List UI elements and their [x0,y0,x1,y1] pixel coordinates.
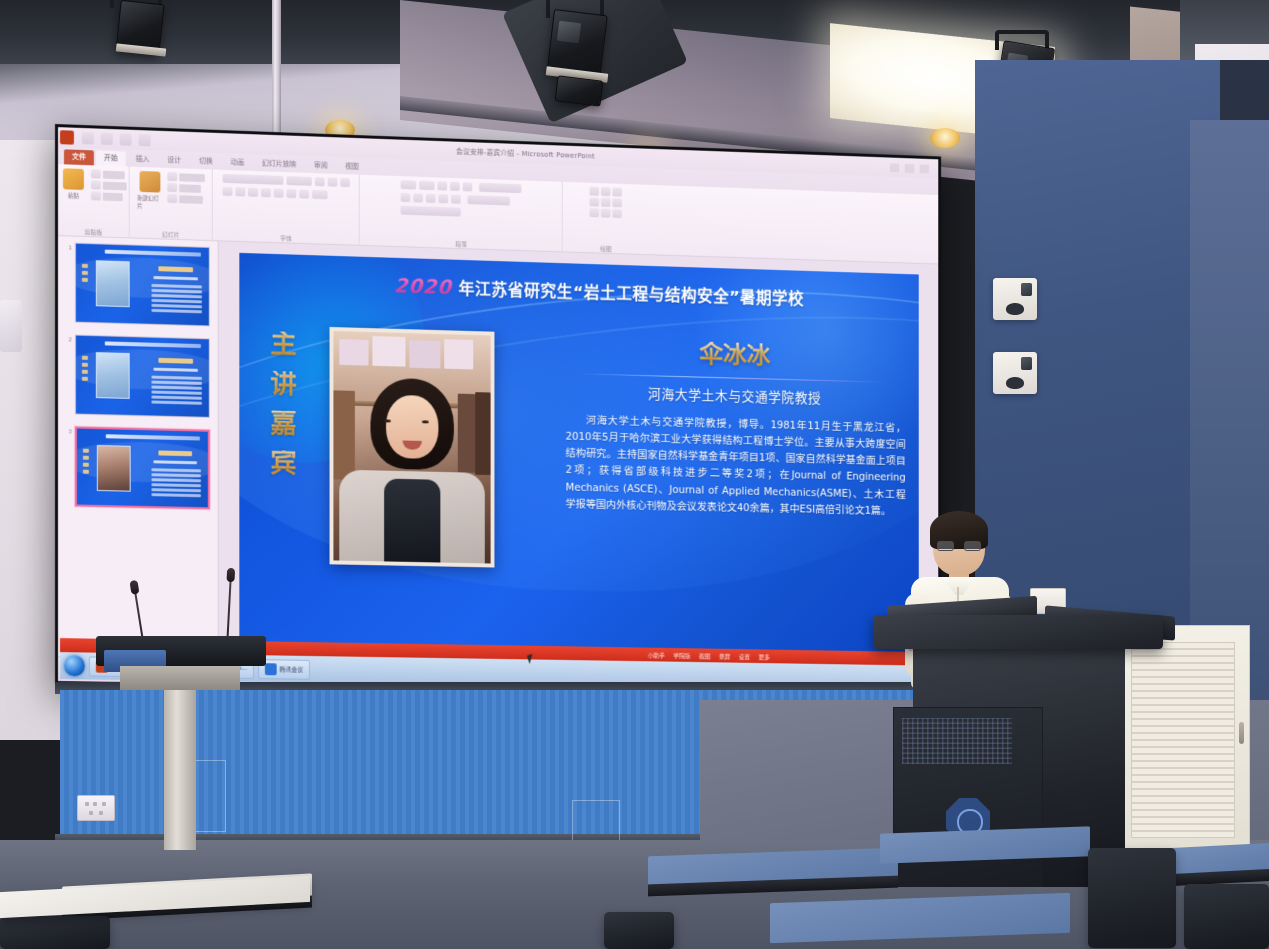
shape-rect-icon[interactable] [589,187,599,196]
quick-style-icon[interactable] [612,209,622,218]
numbering-icon[interactable] [419,181,435,190]
downlight-icon [930,128,960,148]
clear-format-icon[interactable] [340,178,350,187]
present-icon[interactable] [139,134,151,146]
increase-font-icon[interactable] [314,177,324,186]
line-spacing-icon[interactable] [463,182,473,191]
projection-screen: 会议安排-嘉宾介绍 - Microsoft PowerPoint 文件 开始 插… [55,124,941,697]
shape-line-icon[interactable] [601,187,611,196]
lecture-hall-scene: 会议安排-嘉宾介绍 - Microsoft PowerPoint 文件 开始 插… [0,0,1269,949]
change-case-icon[interactable] [299,189,309,198]
bullets-icon[interactable] [401,180,417,189]
chair [604,912,674,949]
shape-circle-icon[interactable] [589,197,599,206]
justify-icon[interactable] [438,194,448,203]
decrease-indent-icon[interactable] [437,181,447,190]
arrange-icon[interactable] [601,209,611,218]
paste-icon [63,168,84,190]
redbar-item[interactable]: 更多 [759,652,770,661]
slide-thumbnail-1[interactable] [75,243,210,327]
ribbon-group-drawing[interactable]: 绘图 [563,182,649,255]
tab-home[interactable]: 开始 [96,150,126,166]
speaker-bio: 河海大学土木与交通学院教授，博导。1981年11月生于黑龙江省，2010年5月于… [566,412,906,520]
powerpoint-window: 会议安排-嘉宾介绍 - Microsoft PowerPoint 文件 开始 插… [58,127,938,694]
ribbon-group-clipboard[interactable]: 粘贴 [58,164,130,238]
shadow-icon[interactable] [260,188,270,197]
tab-animations[interactable]: 动画 [223,155,253,171]
decrease-font-icon[interactable] [327,178,337,187]
cabinet-louvre [1131,642,1235,838]
left-white-wall [0,140,60,740]
copy-button[interactable] [90,180,126,190]
bold-icon[interactable] [222,187,232,196]
year-badge: 2020 [395,274,455,299]
quick-access-toolbar[interactable] [82,132,151,146]
paste-button[interactable]: 粘贴 [60,168,86,209]
format-painter-button[interactable] [90,191,126,201]
tab-slideshow[interactable]: 幻灯片放映 [254,156,304,173]
new-slide-icon [140,171,161,193]
new-slide-button[interactable]: 新建幻灯片 [137,171,163,212]
cabinet-handle[interactable] [1239,722,1244,744]
slide-thumbnail-2[interactable] [75,335,210,418]
shape-arrow-icon[interactable] [612,187,622,196]
side-cabinet [1120,625,1250,865]
cut-icon [90,169,100,178]
redbar-item[interactable]: 截图 [699,651,710,660]
reset-button[interactable] [167,183,205,193]
tab-review[interactable]: 审阅 [306,158,335,174]
vertical-label-char: 宾 [270,450,296,477]
wall-speaker-lower [993,352,1037,394]
close-icon[interactable] [920,164,929,173]
list-item[interactable]: 2 [66,334,210,418]
redo-icon[interactable] [120,133,132,145]
vertical-label-keynote-guest: 主 讲 嘉 宾 [261,331,306,478]
power-outlet [77,795,115,821]
minimize-icon[interactable] [890,163,899,172]
layout-icon [167,172,177,181]
shape-more-icon[interactable] [589,208,599,217]
lectern-desktop [873,615,1163,649]
cut-button[interactable] [90,169,126,179]
vertical-label-char: 嘉 [270,410,296,437]
powerpoint-logo-icon [60,130,74,144]
format-painter-icon [90,191,100,200]
tab-file[interactable]: 文件 [64,149,94,165]
start-button-icon[interactable] [64,655,85,676]
section-icon [167,194,177,203]
vertical-label-char: 主 [270,331,296,358]
redbar-item[interactable]: 学院版 [673,650,690,659]
list-item[interactable]: 1 [66,242,210,326]
char-spacing-icon[interactable] [286,189,296,198]
underline-icon[interactable] [248,188,258,197]
chair [0,916,110,949]
align-center-icon[interactable] [413,193,423,202]
reset-icon [167,183,177,192]
undo-icon[interactable] [101,133,113,145]
font-family-select[interactable] [222,174,283,185]
align-text-button[interactable] [467,195,509,205]
font-color-icon[interactable] [311,190,327,199]
tab-view[interactable]: 视图 [337,159,366,175]
list-item[interactable]: 3 [66,426,210,509]
window-controls[interactable] [890,163,929,173]
speaker-photo [330,327,495,568]
ribbon-group-slides[interactable]: 新建幻灯片 幻灯片 [130,167,213,241]
wall-speaker-upper [993,278,1037,320]
columns-icon[interactable] [451,195,461,204]
ribbon-group-font[interactable]: 字体 [213,170,360,246]
lectern-perforation [902,718,1012,764]
align-right-icon[interactable] [426,194,436,203]
vertical-label-char: 讲 [270,371,296,398]
left-wall-speaker [0,300,22,352]
shape-triangle-icon[interactable] [601,198,611,207]
layout-button[interactable] [167,172,205,182]
copy-icon [90,180,100,189]
shape-star-icon[interactable] [612,198,622,207]
tab-design[interactable]: 设计 [159,153,189,169]
save-icon[interactable] [82,132,94,144]
left-console-base [120,666,240,690]
chair [1088,848,1176,948]
redbar-item[interactable]: 小助手 [648,650,665,659]
meeting-icon [265,663,277,675]
tab-insert[interactable]: 插入 [128,152,158,168]
maximize-icon[interactable] [905,163,914,172]
convert-smartart-button[interactable] [401,206,461,217]
strikethrough-icon[interactable] [273,189,283,198]
ribbon-group-paragraph[interactable]: 段落 [360,175,563,253]
align-left-icon[interactable] [401,193,411,202]
italic-icon[interactable] [235,187,245,196]
left-console-stand [164,690,196,850]
section-button[interactable] [167,194,205,204]
slide-canvas[interactable]: 2020 年江苏省研究生“岩土工程与结构安全”暑期学校 主 讲 嘉 宾 [219,241,939,669]
editor-body: 1 2 [58,236,938,670]
redbar-item[interactable]: 设置 [739,652,750,661]
chair [1184,884,1269,949]
current-slide[interactable]: 2020 年江苏省研究生“岩土工程与结构安全”暑期学校 主 讲 嘉 宾 [239,253,918,659]
glasses-icon [937,541,981,551]
increase-indent-icon[interactable] [450,182,460,191]
slide-thumbnail-3-selected[interactable] [75,426,210,509]
font-size-select[interactable] [286,176,311,186]
tab-transitions[interactable]: 切换 [191,154,221,170]
redbar-item[interactable]: 录屏 [719,651,730,660]
text-direction-button[interactable] [479,183,521,193]
slide-thumbnail-pane[interactable]: 1 2 [58,236,219,658]
